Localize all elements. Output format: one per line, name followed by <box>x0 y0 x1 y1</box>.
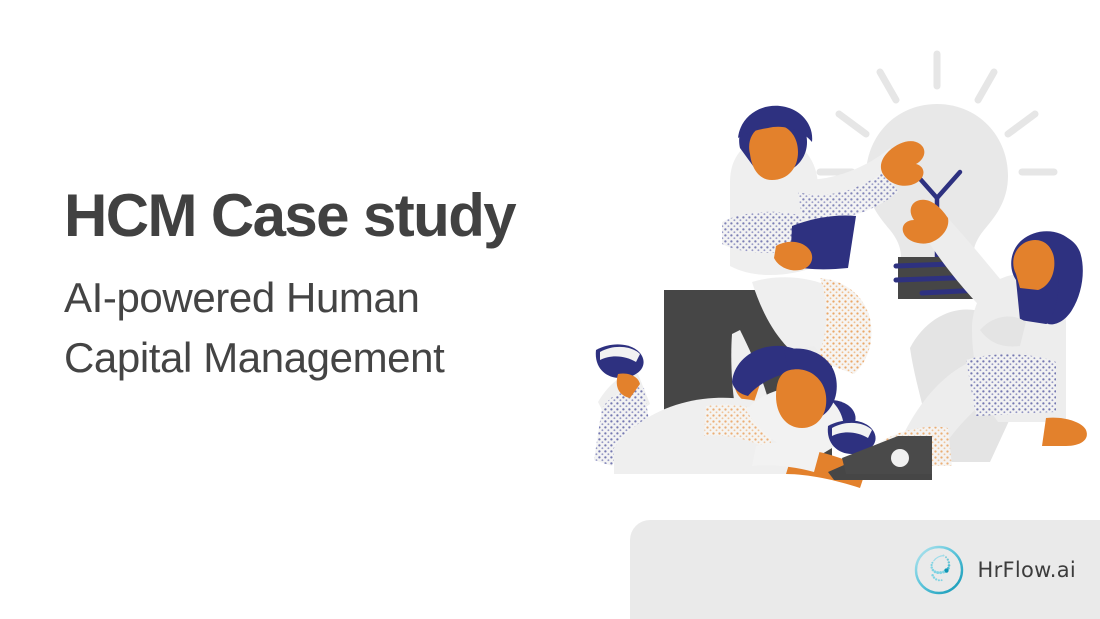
hrflow-circular-spiral-icon <box>913 544 965 596</box>
brand-logo[interactable]: HrFlow.ai <box>913 544 1076 596</box>
subtitle-line-2: Capital Management <box>64 334 444 381</box>
slide-canvas: HCM Case study AI-powered HumanCapital M… <box>0 0 1100 619</box>
subtitle-line-1: AI-powered Human <box>64 274 419 321</box>
face <box>1013 240 1054 290</box>
person-seated-reaching <box>880 200 1087 466</box>
brand-logo-text: HrFlow.ai <box>977 558 1076 582</box>
person-lying-with-laptop <box>594 344 932 488</box>
page-subtitle: AI-powered HumanCapital Management <box>64 268 624 387</box>
page-title: HCM Case study <box>64 186 624 246</box>
brand-panel: HrFlow.ai <box>630 520 1100 619</box>
face <box>749 124 798 180</box>
teamwork-lightbulb-illustration <box>580 30 1100 500</box>
headline-block: HCM Case study AI-powered HumanCapital M… <box>64 186 624 387</box>
laptop-logo <box>891 449 909 467</box>
foot <box>1042 418 1087 446</box>
